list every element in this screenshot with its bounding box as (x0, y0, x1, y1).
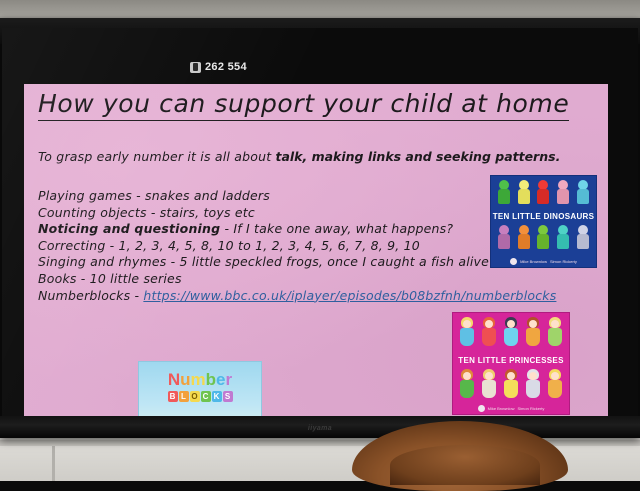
numberblocks-link[interactable]: https://www.bbc.co.uk/iplayer/episodes/b… (143, 288, 556, 303)
interactive-display[interactable]: 262 554 How you can support your child a… (0, 18, 640, 438)
slide-bullet-list: Playing games - snakes and ladders Count… (38, 188, 556, 304)
display-bezel-bottom: iiyama (0, 416, 640, 438)
audience-member-hair (390, 445, 540, 485)
dinosaur-figure (536, 180, 550, 205)
princess-figure (503, 369, 519, 399)
princess-figure (459, 317, 475, 347)
slide-lead-sentence: To grasp early number it is all about ta… (38, 149, 560, 164)
book-cover-ten-little-dinosaurs: TEN LITTLE DINOSAURS Mike Brownlow Simon… (490, 175, 597, 268)
publisher-dot-icon (478, 405, 485, 412)
bullet-text: Books - 10 little series (38, 271, 182, 286)
bullet-text: Correcting - 1, 2, 3, 4, 5, 8, 10 to 1, … (38, 238, 420, 253)
book-author-princesses: Mike Brownlow (488, 406, 515, 411)
princess-figure (481, 317, 497, 347)
princess-figure (503, 317, 519, 347)
book-cover-ten-little-princesses: TEN LITTLE PRINCESSES Mike Brownlow Simo… (452, 312, 570, 415)
presentation-slide: How you can support your child at home T… (24, 84, 608, 420)
dinosaur-figure (517, 225, 531, 250)
bullet-bold-prefix: Noticing and questioning (38, 221, 220, 236)
numberblocks-wordmark-number: Number (139, 370, 261, 390)
bullet-text: Singing and rhymes - 5 little speckled f… (38, 254, 489, 269)
bullet-text: - If I take one away, what happens? (220, 221, 453, 236)
dinosaur-figure (576, 225, 590, 250)
list-item: Singing and rhymes - 5 little speckled f… (38, 254, 556, 271)
list-item: Books - 10 little series (38, 271, 556, 288)
princess-figure (481, 369, 497, 399)
display-brand-logo: iiyama (308, 425, 332, 432)
list-item: Correcting - 1, 2, 3, 4, 5, 8, 10 to 1, … (38, 238, 556, 255)
wall-seam (52, 446, 55, 481)
publisher-dot-icon (510, 258, 517, 265)
princess-figure (547, 369, 563, 399)
dinosaur-figure (497, 180, 511, 205)
dinosaur-figure (536, 225, 550, 250)
book-illustrator-princesses: Simon Rickerty (518, 406, 545, 411)
lead-plain-text: To grasp early number it is all about (38, 149, 275, 164)
numberblocks-image: Number BLOCKS (138, 361, 262, 420)
book-credits-dinosaurs: Mike Brownlow Simon Rickerty (491, 258, 596, 265)
osd-counter-value: 262 554 (205, 61, 247, 73)
book-author-dinosaurs: Mike Brownlow (520, 259, 547, 264)
slide-title: How you can support your child at home (38, 90, 569, 121)
list-item-link: Numberblocks - https://www.bbc.co.uk/ipl… (38, 288, 556, 305)
lead-bold-text: talk, making links and seeking patterns. (275, 149, 560, 164)
osd-counter: 262 554 (190, 61, 247, 73)
book-title-princesses: TEN LITTLE PRINCESSES (453, 356, 569, 365)
book-credits-princesses: Mike Brownlow Simon Rickerty (453, 405, 569, 412)
princess-figure (525, 369, 541, 399)
display-badge-icon (190, 62, 201, 73)
list-item: Noticing and questioning - If I take one… (38, 221, 556, 238)
princess-figure (525, 317, 541, 347)
dinosaur-figure (556, 180, 570, 205)
bullet-text: Counting objects - stairs, toys etc (38, 205, 255, 220)
link-line-label: Numberblocks - (38, 288, 143, 303)
princess-figure (459, 369, 475, 399)
dinosaur-figure (517, 180, 531, 205)
bullet-text: Playing games - snakes and ladders (38, 188, 270, 203)
book-title-dinosaurs: TEN LITTLE DINOSAURS (491, 212, 596, 221)
display-screen[interactable]: 262 554 How you can support your child a… (2, 28, 638, 420)
dinosaur-figure (556, 225, 570, 250)
numberblocks-logo: Number BLOCKS (139, 370, 261, 402)
dinosaur-figure (576, 180, 590, 205)
dinosaur-figure (497, 225, 511, 250)
numberblocks-wordmark-blocks: BLOCKS (139, 391, 261, 402)
book-illustrator-dinosaurs: Simon Rickerty (550, 259, 577, 264)
list-item: Counting objects - stairs, toys etc (38, 205, 556, 222)
princess-figure (547, 317, 563, 347)
list-item: Playing games - snakes and ladders (38, 188, 556, 205)
